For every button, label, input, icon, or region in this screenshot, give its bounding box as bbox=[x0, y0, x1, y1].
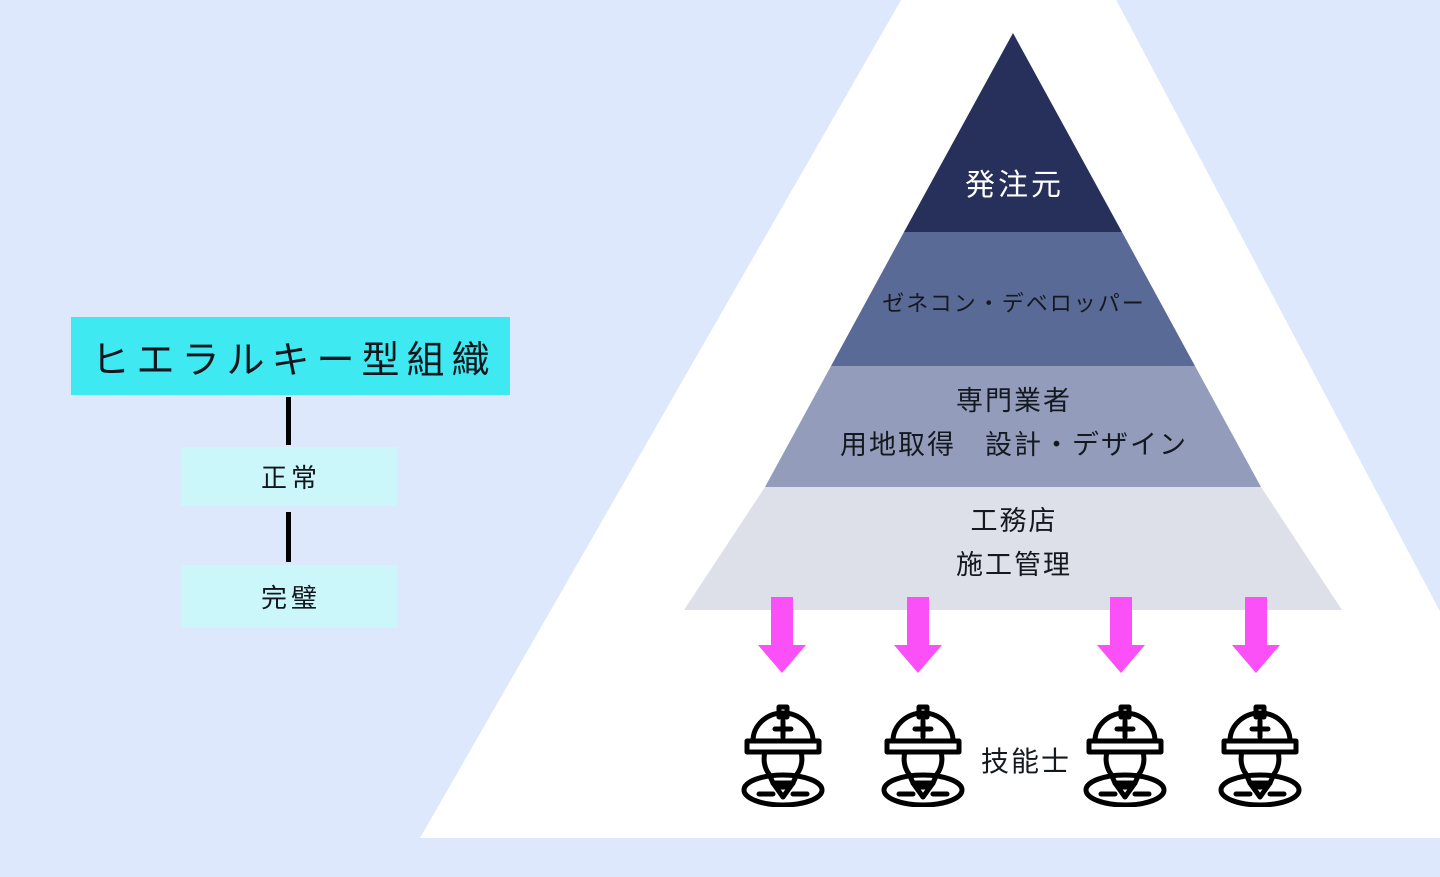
construction-worker-icon-3 bbox=[1077, 697, 1173, 807]
construction-worker-icon-4 bbox=[1212, 697, 1308, 807]
pyramid-panel: 発注元 ゼネコン・デベロッパー 専門業者 用地取得 設計・デザイン 工務店 施工… bbox=[0, 0, 1440, 877]
workers-row: 技能士 bbox=[0, 0, 1440, 877]
diagram-canvas: ヒエラルキー型組織 正常 完璧 bbox=[0, 0, 1440, 877]
construction-worker-icon-2 bbox=[875, 697, 971, 807]
technician-label: 技能士 bbox=[965, 740, 1085, 780]
construction-worker-icon-1 bbox=[735, 697, 831, 807]
